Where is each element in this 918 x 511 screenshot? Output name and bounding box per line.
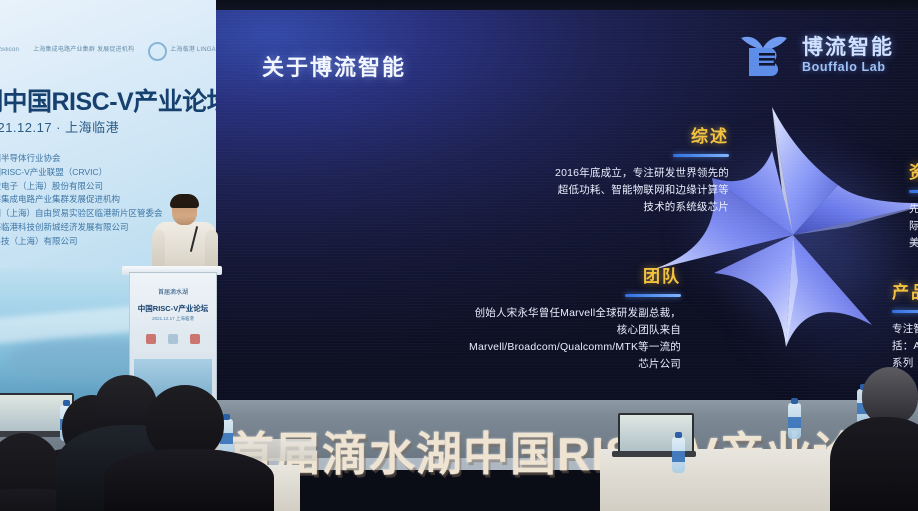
lingang-logo: 上海临港 LINGANG [148,40,216,62]
callout-product-rule [892,310,918,313]
podium-line1: 首届滴水湖 [130,289,216,298]
banner-sponsor-logos: Silicon 上海集成电路产业集群 发展促进机构 上海临港 LINGANG [0,36,216,66]
callout-overview-heading: 综述 [549,122,729,147]
callout-overview-rule [673,154,729,157]
ic-industry-logo-label: 上海集成电路产业集群 发展促进机构 [33,47,134,55]
callout-capital-heading: 资本 [909,158,918,183]
podium-logo-icon [190,334,200,344]
podium-logo-icon [146,334,156,344]
callout-team-rule [625,294,681,297]
podium-logo-icon [168,334,178,344]
lingang-ring-icon [148,42,167,61]
banner-date-location: 2021.12.17 · 上海临港 [0,117,216,136]
callout-product: 产品 专注智慧家居AIoT系统级芯片解决方案，包括：AI边缘计算平台系列和IoT… [892,278,918,372]
callout-capital-rule [909,190,918,193]
callout-overview-body: 2016年底成立，专注研发世界领先的超低功耗、智能物联网和边缘计算等技术的系统级… [549,165,729,216]
audience-shoulders [830,417,918,511]
silicon-logo: Silicon [0,40,19,62]
silicon-logo-label: Silicon [0,47,19,55]
callout-team: 团队 创始人宋永华曾任Marvell全球研发副总裁，核心团队来自Marvell/… [469,262,681,373]
lingang-logo-label: 上海临港 LINGANG [170,47,216,55]
callout-product-heading: 产品 [892,278,918,303]
presentation-screen: 关于博流智能 博流智能 Bouffalo Lab [216,10,918,402]
conference-photo: Silicon 上海集成电路产业集群 发展促进机构 上海临港 LINGANG 湖… [0,0,918,511]
organizer-item: 中国RISC-V产业联盟（CRVIC） [0,166,216,180]
speaker-hair [170,194,199,208]
podium-line3: 2021.12.17 上海临港 [130,316,216,322]
ic-industry-logo: 上海集成电路产业集群 发展促进机构 [33,40,134,62]
bull-head-logo-icon [737,32,793,78]
audience-foreground [0,361,918,511]
callout-overview: 综述 2016年底成立，专注研发世界领先的超低功耗、智能物联网和边缘计算等技术的… [549,122,729,216]
callout-capital: 资本 先后获得红杉资本、启明创投、华登国际、元禾璞华等资本的投资，累计过亿美金 [909,158,918,252]
organizer-item: 中国半导体行业协会 [0,152,216,166]
slide-title: 关于博流智能 [262,50,406,82]
speaker-glasses-icon [173,207,196,213]
podium-line2: 中国RISC-V产业论坛 [130,303,216,314]
water-bottle [672,437,685,473]
company-name-cn: 博流智能 [802,37,894,58]
callout-capital-body: 先后获得红杉资本、启明创投、华登国际、元禾璞华等资本的投资，累计过亿美金 [909,201,918,252]
podium-sponsor-logos [140,331,206,347]
water-bottle [788,403,801,439]
audience-shoulders [104,449,274,511]
banner-title: 湖中国RISC-V产业论坛 [0,82,216,118]
company-logo-text: 博流智能 Bouffalo Lab [802,37,894,74]
company-logo: 博流智能 Bouffalo Lab [737,32,894,78]
company-name-en: Bouffalo Lab [802,61,894,74]
organizer-item: 原微电子（上海）股份有限公司 [0,180,216,194]
callout-team-heading: 团队 [469,262,681,287]
